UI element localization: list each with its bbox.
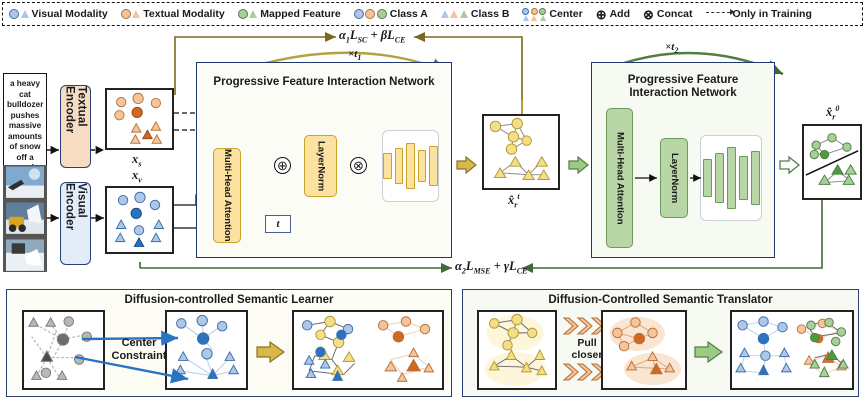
pfin1-loop-label: ×t1 bbox=[348, 48, 361, 62]
loss-bottom-formula: α2LMSE + γLCE bbox=[455, 259, 527, 276]
legend-label: Center bbox=[549, 8, 582, 20]
mid-output-label: x̂rt bbox=[508, 192, 520, 210]
legend-item-concat: ⊗ Concat bbox=[643, 8, 693, 21]
legend-label: Class A bbox=[390, 8, 428, 20]
center-constraint-annotation: Center Constraint bbox=[108, 337, 170, 362]
circled-plus-icon: ⊕ bbox=[596, 8, 607, 21]
translator-stage2-box bbox=[601, 310, 687, 390]
textual-feature-box bbox=[105, 88, 174, 150]
center-person-icon bbox=[522, 8, 546, 21]
pfin1-concat-operator: ⊗ bbox=[350, 157, 367, 174]
pfin2-loop-label: ×t2 bbox=[665, 41, 678, 55]
visual-feature-box bbox=[105, 186, 174, 254]
legend-label: Class B bbox=[471, 8, 510, 20]
dashed-arrow-icon bbox=[706, 12, 730, 13]
pfin1-mlp-block bbox=[382, 130, 439, 202]
translator-stage1-box bbox=[477, 310, 557, 390]
figure-root: Visual Modality Textual Modality Mapped … bbox=[0, 0, 865, 401]
video-frame bbox=[6, 238, 44, 272]
legend-item-mapped-feature: Mapped Feature bbox=[238, 8, 341, 20]
legend-label: Visual Modality bbox=[32, 8, 108, 20]
legend-label: Mapped Feature bbox=[260, 8, 341, 20]
textual-feature-label: xs bbox=[132, 152, 141, 169]
legend-label: Add bbox=[610, 8, 630, 20]
translator-transition-arrow bbox=[694, 340, 724, 364]
legend-label: Only in Training bbox=[733, 8, 812, 20]
visual-feature-label: xv bbox=[132, 168, 142, 185]
circle-blue-icon bbox=[9, 9, 29, 19]
legend-item-only-in-training: Only in Training bbox=[706, 8, 812, 20]
video-film-strip bbox=[3, 165, 47, 272]
pfin1-multi-head-attention[interactable]: Multi-Head Attention bbox=[213, 148, 241, 243]
pfin2-internal-arrows bbox=[591, 62, 775, 258]
circle-green-icon bbox=[238, 9, 258, 19]
video-frame bbox=[6, 201, 44, 235]
caption-document: a heavy cat bulldozer pushes massive amo… bbox=[3, 73, 47, 173]
loss-top-formula: α1LSC + βLCE bbox=[339, 28, 405, 45]
legend: Visual Modality Textual Modality Mapped … bbox=[2, 2, 863, 26]
class-a-icon bbox=[354, 9, 387, 19]
pfin1-timestep-box: t bbox=[265, 215, 291, 233]
translator-stage3-box bbox=[730, 310, 854, 390]
final-output-feature-box bbox=[802, 124, 862, 200]
legend-item-class-a: Class A bbox=[354, 8, 428, 20]
learner-stage3-box bbox=[292, 310, 444, 390]
visual-encoder-block[interactable]: Visual Encoder bbox=[60, 182, 91, 265]
learner-transition-arrow bbox=[256, 340, 286, 364]
pfin1-title: Progressive Feature Interaction Network bbox=[204, 76, 444, 89]
pfin2-input-arrow bbox=[568, 155, 590, 175]
circled-times-icon: ⊗ bbox=[643, 8, 654, 21]
pfin1-layernorm[interactable]: LayerNorm bbox=[304, 135, 337, 197]
circle-orange-icon bbox=[121, 9, 141, 19]
semantic-translator-title: Diffusion-Controlled Semantic Translator bbox=[466, 294, 855, 306]
semantic-learner-title: Diffusion-controlled Semantic Learner bbox=[10, 294, 448, 306]
textual-encoder-block[interactable]: Textual Encoder bbox=[60, 85, 91, 168]
legend-item-textual-modality: Textual Modality bbox=[121, 8, 225, 20]
legend-item-add: ⊕ Add bbox=[596, 8, 630, 21]
final-output-label: x̂r0 bbox=[826, 104, 839, 122]
class-b-icon bbox=[441, 10, 468, 18]
legend-item-center: Center bbox=[522, 8, 582, 21]
video-frame bbox=[6, 165, 44, 199]
legend-item-visual-modality: Visual Modality bbox=[9, 8, 108, 20]
mid-output-feature-box bbox=[482, 114, 560, 190]
pfin1-output-arrow bbox=[456, 155, 478, 175]
legend-item-class-b: Class B bbox=[441, 8, 510, 20]
pfin1-add-operator: ⊕ bbox=[274, 157, 291, 174]
legend-label: Textual Modality bbox=[143, 8, 224, 20]
legend-label: Concat bbox=[657, 8, 693, 20]
final-output-arrow bbox=[779, 155, 801, 175]
mid-feature-top-stub bbox=[521, 100, 523, 114]
